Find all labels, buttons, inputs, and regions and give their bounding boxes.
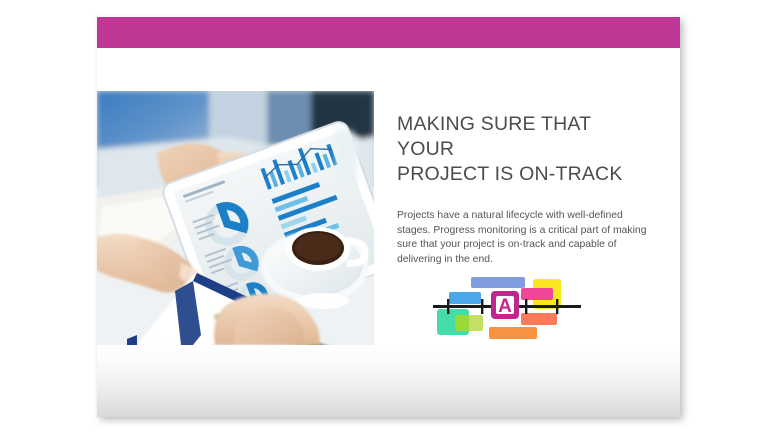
timeline-tick — [556, 299, 558, 314]
slide-text-column: MAKING SURE THAT YOUR PROJECT IS ON-TRAC… — [397, 112, 647, 267]
page-title: MAKING SURE THAT YOUR PROJECT IS ON-TRAC… — [397, 112, 647, 187]
screenshot-canvas: MAKING SURE THAT YOUR PROJECT IS ON-TRAC… — [0, 0, 770, 440]
bar-salmon — [521, 313, 557, 325]
bar-blue — [449, 292, 481, 304]
tablet-charts-photo — [97, 91, 374, 345]
presentation-slide: MAKING SURE THAT YOUR PROJECT IS ON-TRAC… — [97, 17, 680, 417]
logo-letter: A — [498, 296, 512, 317]
body-paragraph: Projects have a natural lifecycle with w… — [397, 187, 647, 267]
bar-orange — [489, 327, 537, 339]
gradient-footer-band — [97, 345, 680, 417]
timeline-tick — [481, 299, 483, 314]
timeline-tick — [525, 299, 527, 314]
project-timeline-graphic: A — [433, 265, 581, 345]
bar-periwinkle — [471, 277, 525, 288]
bar-green-pale — [469, 315, 483, 331]
magenta-header-band — [97, 17, 680, 48]
bar-pink — [521, 288, 553, 300]
timeline-tick — [447, 299, 449, 314]
